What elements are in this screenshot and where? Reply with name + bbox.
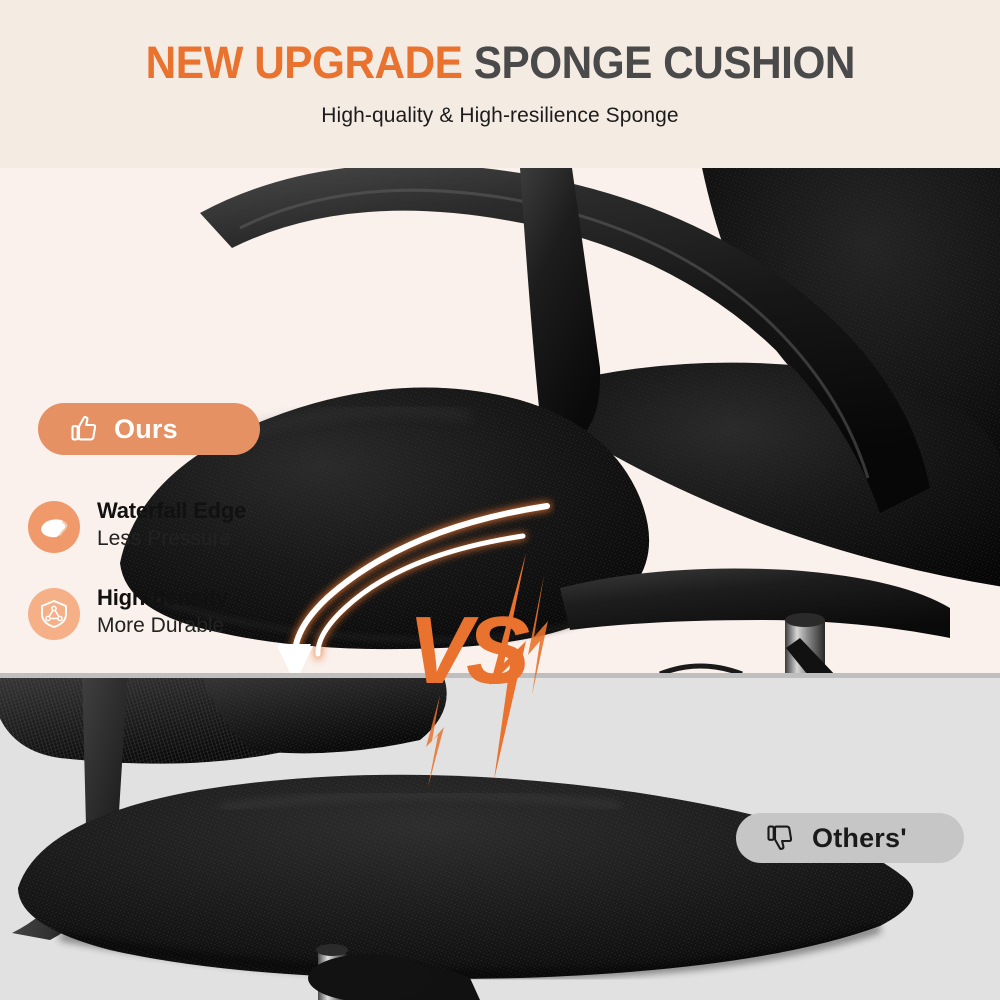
- shield-density-icon: [28, 588, 80, 640]
- headline-grey: SPONGE CUSHION: [473, 37, 854, 88]
- feature-title: High-density: [97, 586, 228, 611]
- others-badge[interactable]: Others': [736, 813, 964, 863]
- ours-badge-label: Ours: [114, 414, 178, 445]
- feature-item-high-resilience: High Resilience Softer: [28, 672, 358, 673]
- feature-item-high-density: High-density More Durable: [28, 585, 358, 640]
- thumbs-up-icon: [68, 413, 100, 445]
- page-title: NEW UPGRADE SPONGE CUSHION: [145, 40, 854, 85]
- versus-badge: VS: [398, 545, 598, 795]
- header-band: NEW UPGRADE SPONGE CUSHION High-quality …: [0, 0, 1000, 168]
- product-comparison-infographic: NEW UPGRADE SPONGE CUSHION High-quality …: [0, 0, 1000, 1000]
- headline-orange: NEW UPGRADE: [145, 37, 462, 88]
- others-badge-label: Others': [812, 823, 907, 854]
- feature-sub: More Durable: [97, 613, 228, 638]
- waterfall-edge-icon: [28, 501, 80, 553]
- versus-label: VS: [408, 603, 524, 699]
- feature-item-waterfall-edge: Waterfall Edge Less Pressure: [28, 498, 358, 553]
- feature-sub: Less Pressure: [97, 526, 246, 551]
- ours-feature-list: Waterfall Edge Less Pressure High-densit…: [28, 498, 358, 673]
- page-subtitle: High-quality & High-resilience Sponge: [321, 104, 678, 128]
- feature-title: Waterfall Edge: [97, 499, 246, 524]
- thumbs-down-icon: [764, 822, 796, 854]
- ours-badge[interactable]: Ours: [38, 403, 260, 455]
